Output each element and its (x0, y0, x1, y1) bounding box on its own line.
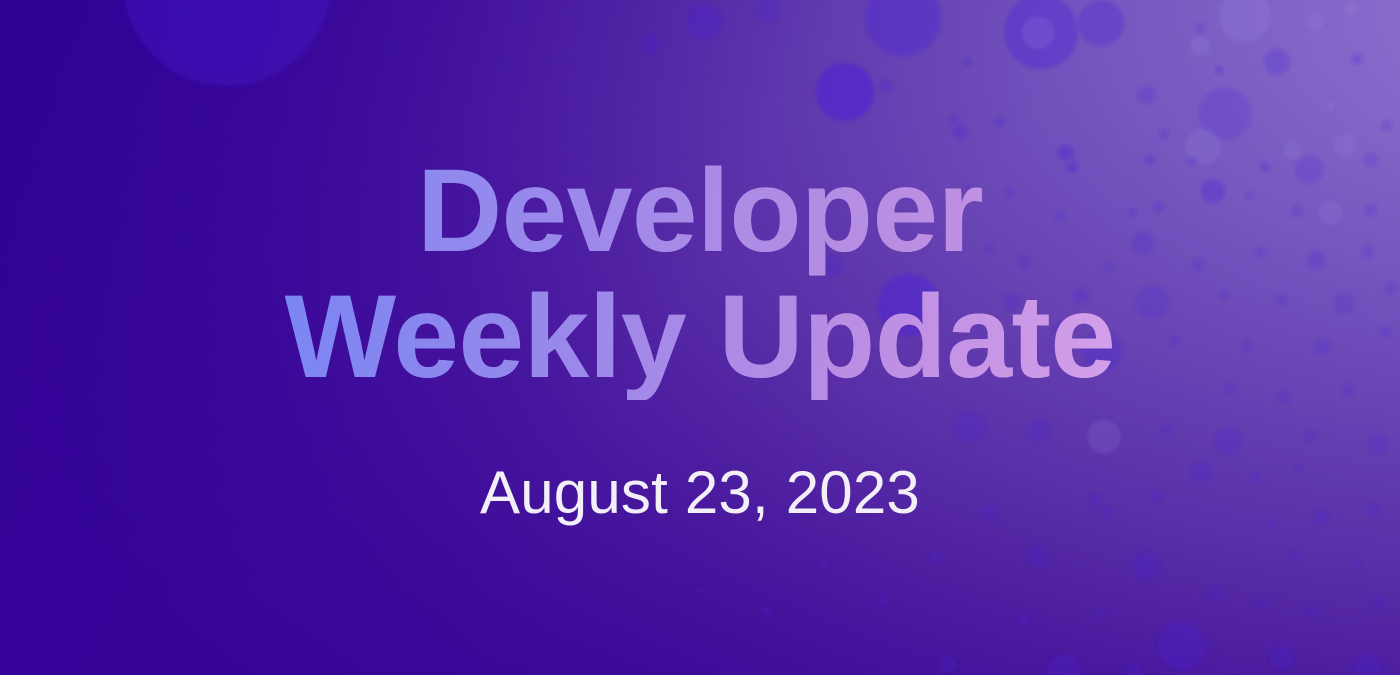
title-line-2: Weekly Update (285, 274, 1116, 400)
title-line-1: Developer (285, 148, 1116, 274)
page-title: Developer Weekly Update (285, 148, 1116, 401)
title-slide: Developer Weekly Update August 23, 2023 (0, 0, 1400, 675)
slide-date: August 23, 2023 (480, 458, 920, 527)
slide-content: Developer Weekly Update August 23, 2023 (0, 0, 1400, 675)
